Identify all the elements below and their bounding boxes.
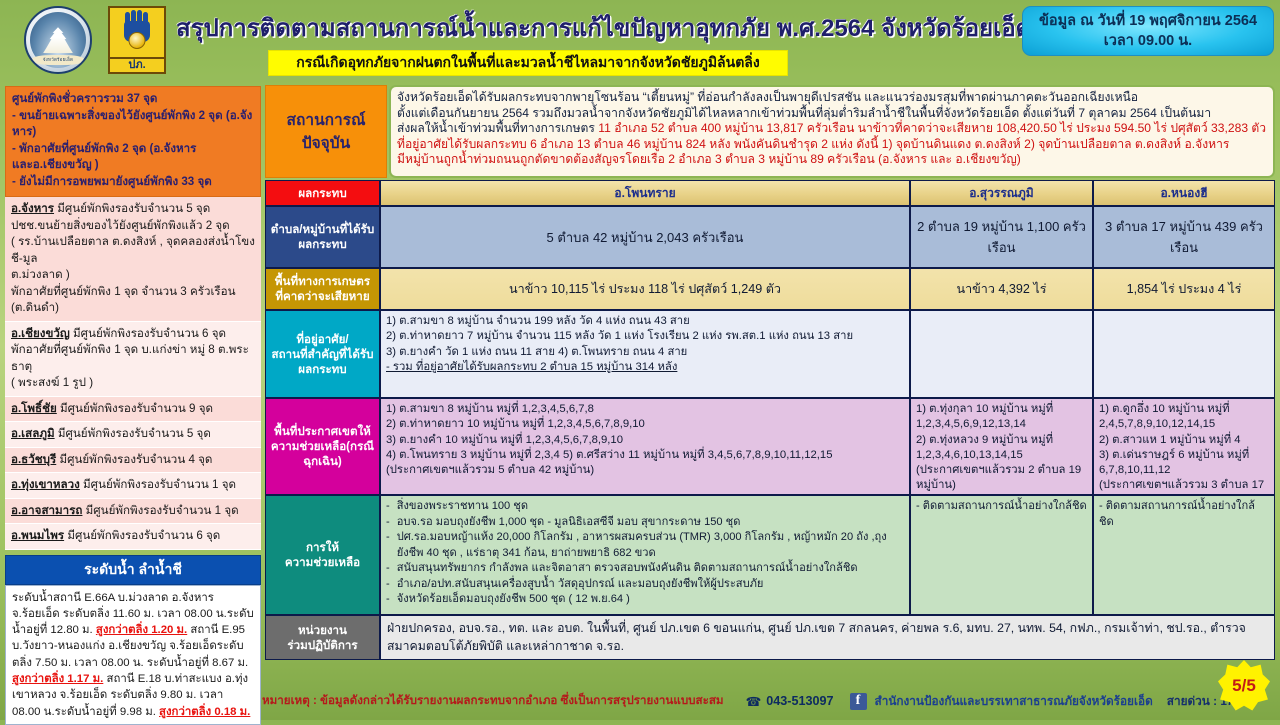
cell-line: 4) ต.โพนทราย 3 หมู่บ้าน หมู่ที่ 2,3,4 5)…	[386, 448, 904, 463]
district-name: อ.จังหาร	[11, 202, 54, 215]
district-extra: พักอาศัยที่ศูนย์พักพิง 1 จุด บ.แก่งข่า ห…	[11, 342, 255, 375]
district-detail: มีศูนย์พักพิงรองรับจำนวน 4 จุด	[56, 453, 212, 466]
cell-summary-line: - รวม ที่อยู่อาศัยได้รับผลกระทบ 2 ตำบล 1…	[386, 360, 904, 375]
district-name: อ.โพธิ์ชัย	[11, 402, 57, 415]
table-rowlabel-impact: ผลกระทบ	[265, 180, 380, 206]
station-1-warning: สูงกว่าตลิ่ง 1.20 ม.	[96, 624, 187, 636]
page-title: สรุปการติดตามสถานการณ์น้ำและการแก้ไขปัญห…	[176, 8, 1026, 47]
table-cell	[1093, 310, 1275, 398]
list-item: อ.ทุ่งเขาหลวง มีศูนย์พักพิงรองรับจำนวน 1…	[5, 473, 261, 499]
time-line: เวลา 09.00 น.	[1104, 31, 1192, 51]
list-item: อ.จังหาร มีศูนย์พักพิงรองรับจำนวน 5 จุด …	[5, 197, 261, 322]
list-item: -สนับสนุนทรัพยากร กำลังพล และจิตอาสา ตรว…	[386, 561, 904, 577]
cell-line: 1) ต.สามขา 8 หมู่บ้าน จำนวน 199 หลัง วัด…	[386, 314, 904, 329]
province-seal-logo: จังหวัดร้อยเอ็ด	[24, 6, 92, 74]
list-item: -สิ่งของพระราชทาน 100 ชุด	[386, 499, 904, 515]
current-situation-section: สถานการณ์ ปัจจุบัน จังหวัดร้อยเอ็ดได้รับ…	[265, 85, 1275, 180]
assistance-text: อบจ.รอ มอบถุงยังชีพ 1,000 ชุด - มูลนิธิเ…	[397, 515, 741, 531]
table-cell: 1,854 ไร่ ประมง 4 ไร่	[1093, 268, 1275, 310]
table-cell: 3 ตำบล 17 หมู่บ้าน 439 ครัวเรือน	[1093, 206, 1275, 268]
list-item: อ.เชียงขวัญ มีศูนย์พักพิงรองรับจำนวน 6 จ…	[5, 322, 261, 397]
bullet-dash: -	[386, 515, 390, 531]
cell-line: 3) ต.เด่นราษฎร์ 6 หมู่บ้าน หมู่ที่ 6,7,8…	[1099, 448, 1269, 479]
district-detail: มีศูนย์พักพิงรองรับจำนวน 5 จุด	[54, 202, 210, 215]
shelter-summary-line: - ยังไม่มีการอพยพมายังศูนย์พักพิง 33 จุด	[12, 174, 254, 191]
rowlabel-line: ผลกระทบ	[272, 362, 374, 377]
assistance-text: สิ่งของพระราชทาน 100 ชุด	[397, 499, 528, 515]
page-footer: หมายเหตุ : ข้อมูลดังกล่าวได้รับรายงานผลก…	[0, 682, 1280, 720]
table-cell: 1) ต.ทุ่งกุลา 10 หมู่บ้าน หมู่ที่ 1,2,3,…	[910, 398, 1093, 495]
district-name: อ.อาจสามารถ	[11, 504, 82, 517]
rowlabel-line: ตำบล/หมู่บ้านที่ได้รับ	[271, 222, 374, 237]
table-cell: 5 ตำบล 42 หมู่บ้าน 2,043 ครัวเรือน	[380, 206, 910, 268]
shelter-summary-line: - ขนย้ายเฉพาะสิ่งของไว้ยังศูนย์พักพิง 2 …	[12, 108, 254, 141]
district-name: อ.เชียงขวัญ	[11, 327, 70, 340]
situation-text-plain: ส่งผลให้น้ำเข้าท่วมพื้นที่ทางการเกษตร	[397, 121, 598, 135]
situation-highlight: มีหมู่บ้านถูกน้ำท่วมถนนถูกตัดขาดต้องสัญจ…	[397, 152, 1267, 168]
list-item: -ปศ.รอ.มอบหญ้าแห้ง 20,000 กิโลกรัม , อาห…	[386, 530, 904, 561]
rowlabel-line: ที่อยู่อาศัย/	[272, 332, 374, 347]
rowlabel-line: ความช่วยเหลือ(กรณี	[271, 439, 374, 454]
data-timestamp-box: ข้อมูล ณ วันที่ 19 พฤศจิกายน 2564 เวลา 0…	[1022, 6, 1274, 56]
district-name: อ.เสลภูมิ	[11, 427, 55, 440]
district-extra: พักอาศัยที่ศูนย์พักพิง 1 จุด จำนวน 3 ครั…	[11, 284, 255, 301]
table-cell: - ติดตามสถานการณ์น้ำอย่างใกล้ชิด	[1093, 495, 1275, 615]
assistance-text: อำเภอ/อปท.สนับสนุนเครื่องสูบน้ำ วัสดุอุป…	[397, 577, 764, 593]
table-colheader-nonghi: อ.หนองฮี	[1093, 180, 1275, 206]
table-colheader-suwannaphum: อ.สุวรรณภูมิ	[910, 180, 1093, 206]
table-cell: นาข้าว 4,392 ไร่	[910, 268, 1093, 310]
bullet-dash: -	[386, 530, 390, 561]
cell-line: 1) ต.ทุ่งกุลา 10 หมู่บ้าน หมู่ที่	[916, 402, 1087, 417]
shelter-summary-title: ศูนย์พักพิงชั่วคราวรวม 37 จุด	[12, 91, 254, 108]
assistance-text: จังหวัดร้อยเอ็ดมอบถุงยังชีพ 500 ชุด ( 12…	[397, 592, 630, 608]
assistance-list: -สิ่งของพระราชทาน 100 ชุด -อบจ.รอ มอบถุง…	[386, 499, 904, 608]
rowlabel-line: ผลกระทบ	[271, 237, 374, 252]
table-rowlabel-assistance: การให้ ความช่วยเหลือ	[265, 495, 380, 615]
district-detail: มีศูนย์พักพิงรองรับจำนวน 9 จุด	[57, 402, 213, 415]
district-name: อ.พนมไพร	[11, 529, 64, 542]
table-cell: -สิ่งของพระราชทาน 100 ชุด -อบจ.รอ มอบถุง…	[380, 495, 910, 615]
list-item: อ.เสลภูมิ มีศูนย์พักพิงรองรับจำนวน 5 จุด	[5, 422, 261, 448]
table-cell: 1) ต.ดูกอึ่ง 10 หมู่บ้าน หมู่ที่ 2,4,5,7…	[1093, 398, 1275, 495]
left-sidebar: ศูนย์พักพิงชั่วคราวรวม 37 จุด - ขนย้ายเฉ…	[5, 86, 261, 708]
cell-line: 2) ต.ท่าหาดยาว 10 หมู่บ้าน หมู่ที่ 1,2,3…	[386, 417, 904, 432]
table-rowlabel-agencies: หน่วยงาน ร่วมปฏิบัติการ	[265, 615, 380, 660]
cell-line: (ประกาศเขตฯแล้วรวม 3 ตำบล 17 หมู่บ้าน)	[1099, 478, 1269, 495]
cell-line: 3) ต.ยางคำ 10 หมู่บ้าน หมู่ที่ 1,2,3,4,5…	[386, 433, 904, 448]
current-situation-text: จังหวัดร้อยเอ็ดได้รับผลกระทบจากพายุโซนร้…	[389, 85, 1275, 178]
page-header: จังหวัดร้อยเอ็ด ปภ. สรุปการติดตามสถานการ…	[0, 0, 1280, 82]
table-cell: นาข้าว 10,115 ไร่ ประมง 118 ไร่ ปศุสัตว์…	[380, 268, 910, 310]
table-cell: 1) ต.สามขา 8 หมู่บ้าน หมู่ที่ 1,2,3,4,5,…	[380, 398, 910, 495]
seal-ribbon-label: จังหวัดร้อยเอ็ด	[32, 55, 84, 65]
table-colheader-phonsai: อ.โพนทราย	[380, 180, 910, 206]
rowlabel-line: หน่วยงาน	[287, 623, 357, 638]
cell-line: 1) ต.สามขา 8 หมู่บ้าน หมู่ที่ 1,2,3,4,5,…	[386, 402, 904, 417]
bullet-dash: -	[386, 499, 390, 515]
bullet-dash: -	[386, 577, 390, 593]
organization-group: f สำนักงานป้องกันและบรรเทาสาธารณภัยจังหว…	[850, 692, 1153, 711]
cell-line: 3) ต.ยางคำ วัด 1 แห่ง ถนน 11 สาย 4) ต.โพ…	[386, 345, 904, 360]
list-item: อ.ธวัชบุรี มีศูนย์พักพิงรองรับจำนวน 4 จุ…	[5, 448, 261, 474]
situation-label-line1: สถานการณ์	[287, 109, 366, 132]
table-cell: - ติดตามสถานการณ์น้ำอย่างใกล้ชิด	[910, 495, 1093, 615]
contact-phone-group: ☎ 043-513097	[746, 694, 834, 709]
footer-note: หมายเหตุ : ข้อมูลดังกล่าวได้รับรายงานผลก…	[262, 692, 724, 710]
table-rowlabel-tambon: ตำบล/หมู่บ้านที่ได้รับ ผลกระทบ	[265, 206, 380, 268]
shelter-summary-line: - พักอาศัยที่ศูนย์พักพิง 2 จุด (อ.จังหาร…	[12, 141, 254, 174]
situation-paragraph: จังหวัดร้อยเอ็ดได้รับผลกระทบจากพายุโซนร้…	[397, 90, 1267, 106]
district-name: อ.ธวัชบุรี	[11, 453, 56, 466]
current-situation-label: สถานการณ์ ปัจจุบัน	[265, 85, 387, 178]
phone-icon: ☎	[746, 694, 762, 709]
list-item: อ.พนมไพร มีศูนย์พักพิงรองรับจำนวน 6 จุด	[5, 524, 261, 550]
table-cell: 2 ตำบล 19 หมู่บ้าน 1,100 ครัวเรือน	[910, 206, 1093, 268]
list-item: อ.อาจสามารถ มีศูนย์พักพิงรองรับจำนวน 1 จ…	[5, 499, 261, 525]
situation-paragraph: ตั้งแต่เดือนกันยายน 2564 รวมถึงมวลน้ำจาก…	[397, 106, 1267, 122]
list-item: อ.โพธิ์ชัย มีศูนย์พักพิงรองรับจำนวน 9 จุ…	[5, 397, 261, 423]
cell-line: 1,2,3,4,6,10,13,14,15	[916, 448, 1087, 463]
district-detail: มีศูนย์พักพิงรองรับจำนวน 1 จุด	[82, 504, 238, 517]
rowlabel-line: พื้นที่ทางการเกษตร	[275, 274, 370, 289]
shelter-summary-panel: ศูนย์พักพิงชั่วคราวรวม 37 จุด - ขนย้ายเฉ…	[5, 86, 261, 197]
district-detail: มีศูนย์พักพิงรองรับจำนวน 1 จุด	[80, 478, 236, 491]
cell-line: 2) ต.ทุ่งหลวง 9 หมู่บ้าน หมู่ที่	[916, 433, 1087, 448]
district-detail: มีศูนย์พักพิงรองรับจำนวน 5 จุด	[55, 427, 211, 440]
table-cell-agencies: ฝ่ายปกครอง, อบจ.รอ., ทต. และ อบต. ในพื้น…	[380, 615, 1275, 660]
district-detail: มีศูนย์พักพิงรองรับจำนวน 6 จุด	[64, 529, 220, 542]
date-line: ข้อมูล ณ วันที่ 19 พฤศจิกายน 2564	[1039, 11, 1257, 31]
table-rowlabel-agriculture: พื้นที่ทางการเกษตร ที่คาดว่าจะเสียหาย	[265, 268, 380, 310]
rowlabel-line: พื้นที่ประกาศเขตให้	[271, 424, 374, 439]
table-cell	[910, 310, 1093, 398]
rowlabel-line: ที่คาดว่าจะเสียหาย	[275, 289, 370, 304]
rowlabel-line: ฉุกเฉิน)	[271, 454, 374, 469]
rowlabel-line: สถานที่สำคัญที่ได้รับ	[272, 347, 374, 362]
district-extra: ต.ม่วงลาด )	[11, 267, 255, 284]
list-item: -อบจ.รอ มอบถุงยังชีพ 1,000 ชุด - มูลนิธิ…	[386, 515, 904, 531]
list-item: -จังหวัดร้อยเอ็ดมอบถุงยังชีพ 500 ชุด ( 1…	[386, 592, 904, 608]
rowlabel-line: การให้	[285, 540, 360, 555]
bullet-dash: -	[386, 592, 390, 608]
emblem-disc-icon	[129, 32, 146, 49]
table-cell: 1) ต.สามขา 8 หมู่บ้าน จำนวน 199 หลัง วัด…	[380, 310, 910, 398]
district-name: อ.ทุ่งเขาหลวง	[11, 478, 80, 491]
list-item: -อำเภอ/อปท.สนับสนุนเครื่องสูบน้ำ วัสดุอุ…	[386, 577, 904, 593]
page-subtitle: กรณีเกิดอุทกภัยจากฝนตกในพื้นที่และมวลน้ำ…	[268, 50, 788, 76]
rowlabel-line: ร่วมปฏิบัติการ	[287, 638, 357, 653]
situation-highlight: 11 อำเภอ 52 ตำบล 400 หมู่บ้าน 13,817 ครั…	[598, 121, 1266, 135]
phone-number: 043-513097	[766, 694, 833, 708]
cell-line: 2) ต.ท่าหาดยาว 7 หมู่บ้าน จำนวน 115 หลัง…	[386, 329, 904, 344]
situation-label-line2: ปัจจุบัน	[287, 132, 366, 155]
district-shelter-list: อ.จังหาร มีศูนย์พักพิงรองรับจำนวน 5 จุด …	[5, 197, 261, 550]
cell-line: 1,2,3,4,5,6,9,12,13,14	[916, 417, 1087, 432]
district-extra: ( พระสงฆ์ 1 รูป )	[11, 375, 255, 392]
cell-line: 1) ต.ดูกอึ่ง 10 หมู่บ้าน หมู่ที่ 2,4,5,7…	[1099, 402, 1269, 433]
district-extra: (ต.ดินดำ)	[11, 300, 255, 317]
district-detail: มีศูนย์พักพิงรองรับจำนวน 6 จุด	[70, 327, 226, 340]
assistance-text: สนับสนุนทรัพยากร กำลังพล และจิตอาสา ตรวจ…	[397, 561, 858, 577]
cell-line: (ประกาศเขตฯแล้วรวม 2 ตำบล 19 หมู่บ้าน)	[916, 463, 1087, 494]
situation-paragraph: ส่งผลให้น้ำเข้าท่วมพื้นที่ทางการเกษตร 11…	[397, 121, 1267, 137]
rowlabel-line: ความช่วยเหลือ	[285, 555, 360, 570]
cell-line: (ประกาศเขตฯแล้วรวม 5 ตำบล 42 หมู่บ้าน)	[386, 463, 904, 478]
ddpm-logo: ปภ.	[108, 6, 166, 74]
district-extra: ( รร.บ้านเปลือยตาล ต.ดงสิงห์ , จุดคลองส่…	[11, 234, 255, 267]
table-rowlabel-declared-area: พื้นที่ประกาศเขตให้ ความช่วยเหลือ(กรณี ฉ…	[265, 398, 380, 495]
water-level-section-title: ระดับน้ำ ลำน้ำชี	[5, 555, 261, 585]
ddpm-abbrev-label: ปภ.	[110, 57, 164, 72]
organization-name: สำนักงานป้องกันและบรรเทาสาธารณภัยจังหวัด…	[875, 692, 1153, 711]
bullet-dash: -	[386, 561, 390, 577]
facebook-icon[interactable]: f	[850, 693, 867, 710]
impact-summary-table: ผลกระทบ อ.โพนทราย อ.สุวรรณภูมิ อ.หนองฮี …	[265, 180, 1275, 660]
situation-highlight: ที่อยู่อาศัยได้รับผลกระทบ 6 อำเภอ 13 ตำบ…	[397, 137, 1267, 153]
district-extra: ปชช.ขนย้ายสิ่งของไว้ยังศูนย์พักพิงแล้ว 2…	[11, 218, 255, 235]
assistance-text: ปศ.รอ.มอบหญ้าแห้ง 20,000 กิโลกรัม , อาหา…	[397, 530, 904, 561]
table-rowlabel-residence: ที่อยู่อาศัย/ สถานที่สำคัญที่ได้รับ ผลกร…	[265, 310, 380, 398]
cell-line: 2) ต.สาวแห 1 หมู่บ้าน หมู่ที่ 4	[1099, 433, 1269, 448]
